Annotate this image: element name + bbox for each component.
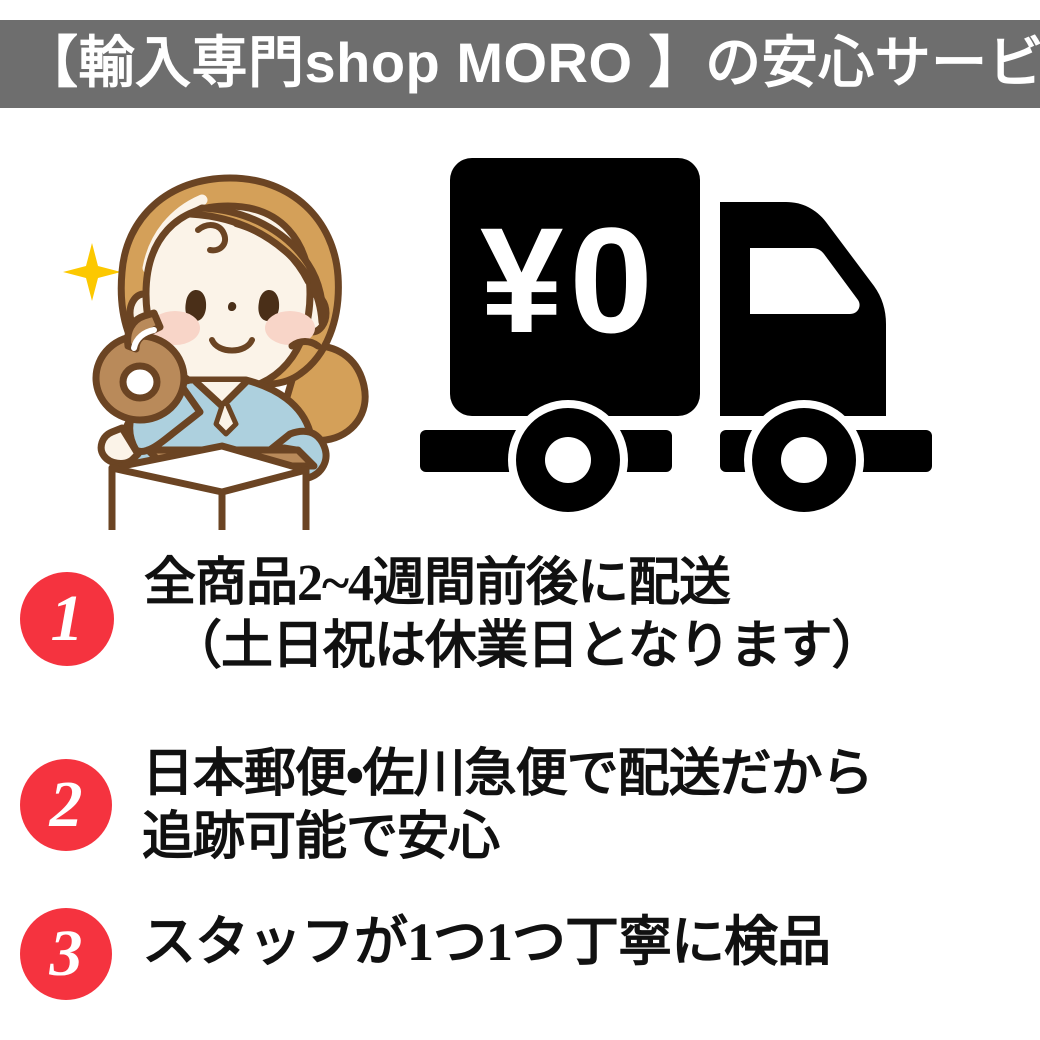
service-list-item-3: 3 スタッフが1つ1つ丁寧に検品	[0, 900, 1040, 1035]
header-bar: 【輸入専門shop MORO 】の安心サービス	[0, 20, 1040, 108]
service-text-2: 日本郵便・佐川急便で配送だから 追跡可能で安心	[142, 743, 1040, 870]
service-line-3-1: スタッフが1つ1つ丁寧に検品	[142, 910, 1040, 976]
page-title: 【輸入専門shop MORO 】の安心サービス	[22, 35, 1040, 91]
service-badge-2: 2	[20, 759, 112, 851]
delivery-truck-illustration: ¥0	[420, 140, 980, 520]
service-line-1-2: （土日祝は休業日となります）	[144, 615, 1040, 678]
service-line-1-1: 全商品2~4週間前後に配送	[144, 552, 1040, 615]
service-badge-3: 3	[20, 908, 112, 1000]
illustration-band: ¥0	[0, 120, 1040, 540]
service-list-item-1: 1 全商品2~4週間前後に配送 （土日祝は休業日となります）	[0, 550, 1040, 725]
service-text-1: 全商品2~4週間前後に配送 （土日祝は休業日となります）	[144, 552, 1040, 679]
service-badge-1: 1	[20, 572, 114, 666]
service-list: 1 全商品2~4週間前後に配送 （土日祝は休業日となります） 2 日本郵便・佐川…	[0, 545, 1040, 1040]
sparkle-icon	[63, 243, 121, 301]
service-line-2-2: 追跡可能で安心	[142, 806, 1040, 869]
woman-packing-box-illustration	[40, 150, 420, 530]
banner-root: 【輸入専門shop MORO 】の安心サービス	[0, 0, 1040, 1040]
service-line-2-1: 日本郵便・佐川急便で配送だから	[142, 743, 1040, 806]
truck-cargo-label: ¥0	[480, 196, 659, 364]
service-list-item-2: 2 日本郵便・佐川急便で配送だから 追跡可能で安心	[0, 743, 1040, 903]
service-text-3: スタッフが1つ1つ丁寧に検品	[142, 910, 1040, 976]
